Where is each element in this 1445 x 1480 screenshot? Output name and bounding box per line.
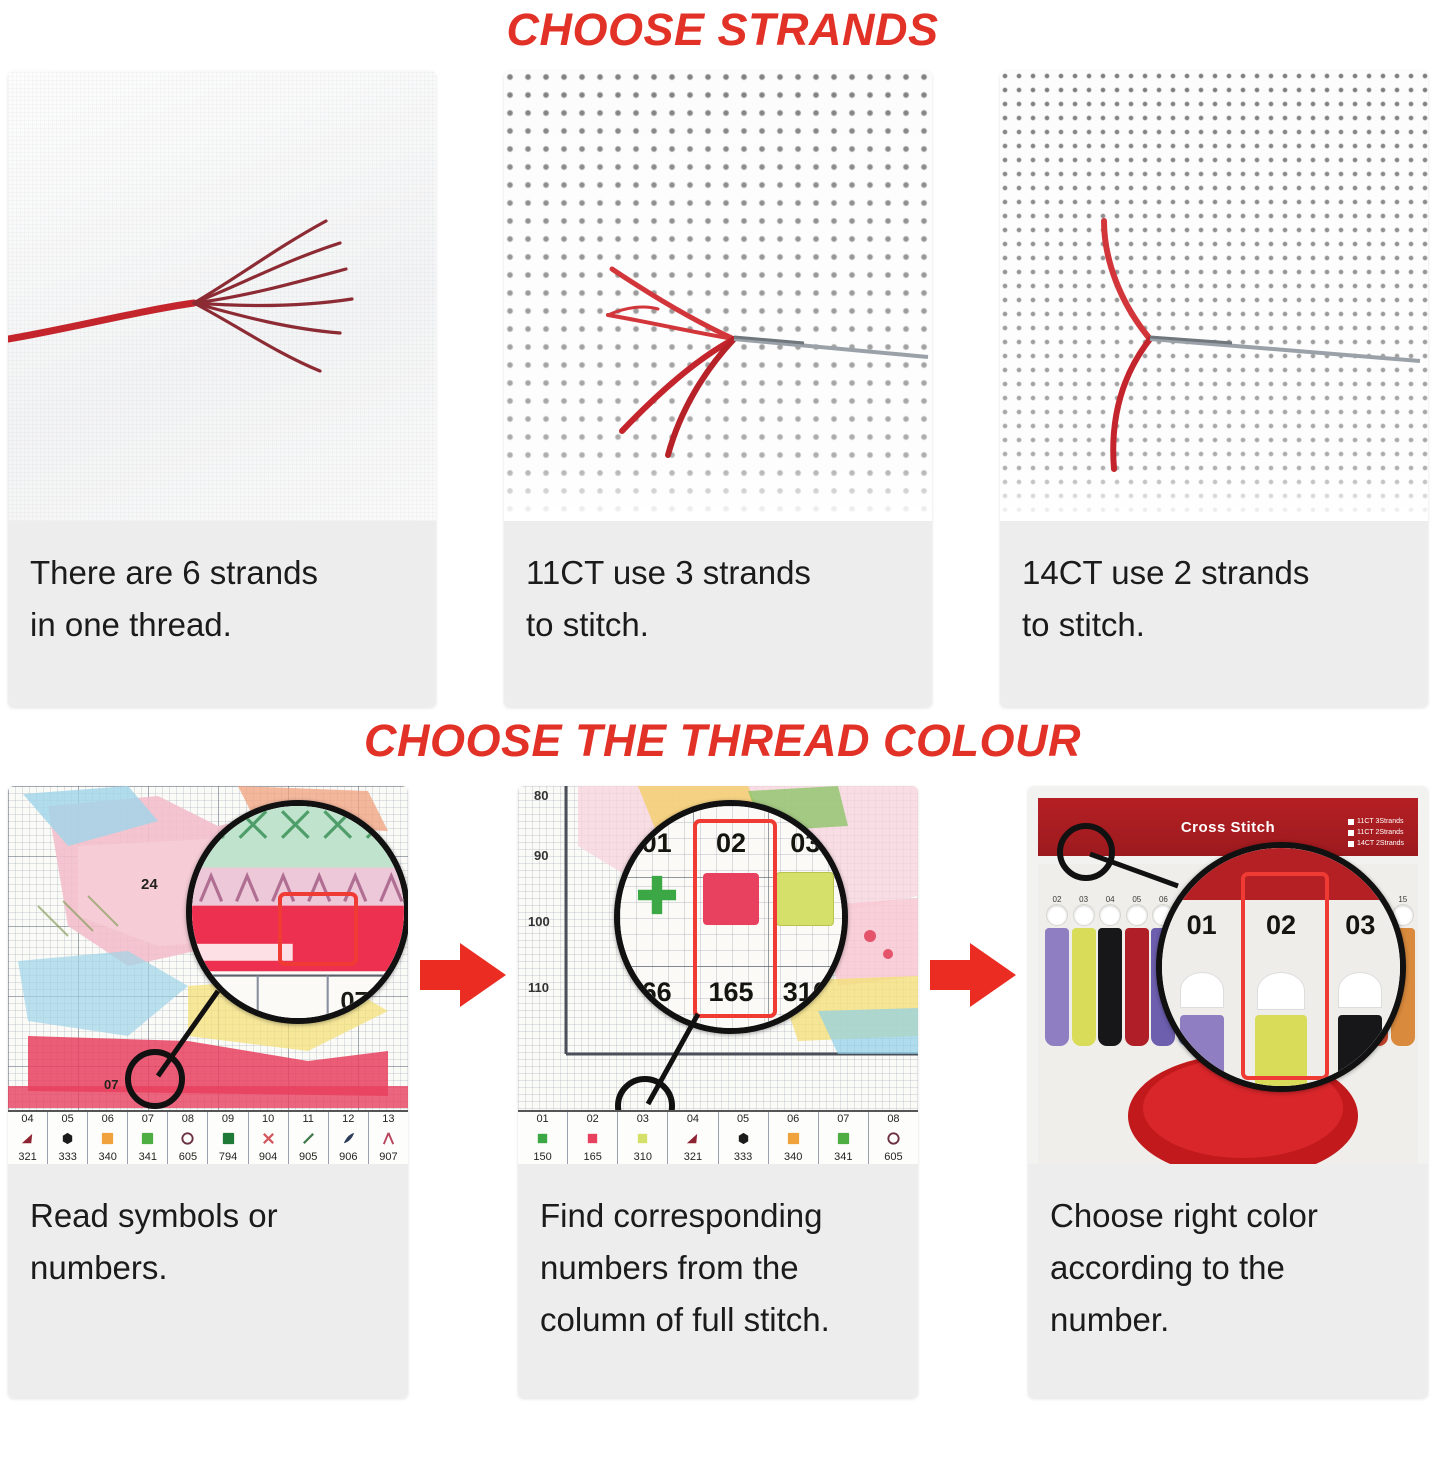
caption-line-1: There are 6 strands bbox=[30, 547, 414, 599]
needle-and-three-strands-illustration bbox=[504, 71, 932, 521]
legend-code-cell: 605 bbox=[869, 1150, 918, 1164]
caption-line-1: 11CT use 3 strands bbox=[526, 547, 910, 599]
legend-header-cell: 06 bbox=[88, 1112, 128, 1126]
legend-symbol-cell bbox=[208, 1126, 248, 1150]
caption-read-symbols: Read symbols or numbers. bbox=[8, 1164, 408, 1398]
legend-symbol-cell bbox=[249, 1126, 289, 1150]
legend-header-cell: 11 bbox=[289, 1112, 329, 1126]
arrow-cell-1 bbox=[408, 786, 518, 1164]
photo-chart-numbers: 80 90 100 110 01 66 bbox=[518, 786, 918, 1164]
panel-choose-colour: Cross Stitch 11CT 3Strands 11CT 2Strands… bbox=[1028, 786, 1428, 1398]
legend-code-cell: 321 bbox=[8, 1150, 48, 1164]
legend-symbol-cell bbox=[668, 1126, 718, 1150]
photo-six-strands bbox=[8, 71, 436, 521]
legend-symbol-cell bbox=[289, 1126, 329, 1150]
panel-find-numbers: 80 90 100 110 01 66 bbox=[518, 786, 918, 1398]
panel-read-symbols: 24 07 bbox=[8, 786, 408, 1398]
legend-symbol-cell bbox=[88, 1126, 128, 1150]
legend-code-cell: 165 bbox=[568, 1150, 618, 1164]
photo-11ct-needle bbox=[504, 71, 932, 521]
legend-symbol-cell bbox=[568, 1126, 618, 1150]
caption-six-strands: There are 6 strands in one thread. bbox=[8, 521, 436, 707]
photo-14ct-needle bbox=[1000, 71, 1428, 521]
legend-header-cell: 07 bbox=[128, 1112, 168, 1126]
section-title-choose-thread-colour: CHOOSE THE THREAD COLOUR bbox=[0, 713, 1445, 768]
magnifier-leader-line bbox=[1028, 786, 1428, 1164]
legend-symbol-cell bbox=[48, 1126, 88, 1150]
legend-code-cell: 341 bbox=[128, 1150, 168, 1164]
legend-code-cell: 907 bbox=[369, 1150, 408, 1164]
legend-header-cell: 13 bbox=[369, 1112, 408, 1126]
caption-line-3: column of full stitch. bbox=[540, 1294, 896, 1346]
legend-symbol-cell bbox=[869, 1126, 918, 1150]
photo-thread-card: Cross Stitch 11CT 3Strands 11CT 2Strands… bbox=[1028, 786, 1428, 1164]
legend-code-row: 150165310321333340341605 bbox=[518, 1150, 918, 1164]
legend-code-cell: 321 bbox=[668, 1150, 718, 1164]
arrow-cell-2 bbox=[918, 786, 1028, 1164]
caption-line-3: number. bbox=[1050, 1294, 1406, 1346]
legend-code-row: 321333340341605794904905906907 bbox=[8, 1150, 408, 1164]
legend-header-cell: 01 bbox=[518, 1112, 568, 1126]
caption-choose-colour: Choose right color according to the numb… bbox=[1028, 1164, 1428, 1398]
legend-symbol-cell bbox=[769, 1126, 819, 1150]
legend-code-cell: 605 bbox=[168, 1150, 208, 1164]
magnifier-leader-line bbox=[8, 786, 408, 1164]
legend-code-cell: 904 bbox=[249, 1150, 289, 1164]
legend-header-cell: 04 bbox=[8, 1112, 48, 1126]
legend-header-cell: 04 bbox=[668, 1112, 718, 1126]
caption-line-2: numbers from the bbox=[540, 1242, 896, 1294]
legend-header-cell: 08 bbox=[869, 1112, 918, 1126]
legend-symbol-cell bbox=[329, 1126, 369, 1150]
caption-line-2: to stitch. bbox=[526, 599, 910, 651]
legend-code-cell: 333 bbox=[48, 1150, 88, 1164]
caption-line-1: Read symbols or bbox=[30, 1190, 386, 1242]
section-title-choose-strands: CHOOSE STRANDS bbox=[0, 2, 1445, 57]
legend-header-row: 04050607080910111213 bbox=[8, 1112, 408, 1126]
caption-line-1: Choose right color bbox=[1050, 1190, 1406, 1242]
legend-header-cell: 03 bbox=[618, 1112, 668, 1126]
caption-find-numbers: Find corresponding numbers from the colu… bbox=[518, 1164, 918, 1398]
legend-code-cell: 341 bbox=[819, 1150, 869, 1164]
six-strand-thread-illustration bbox=[8, 71, 436, 521]
arrow-head bbox=[970, 943, 1016, 1007]
chart-legend-strip: 04050607080910111213 3213333403416057949… bbox=[8, 1110, 408, 1164]
card-six-strands: There are 6 strands in one thread. bbox=[8, 71, 436, 707]
legend-header-cell: 02 bbox=[568, 1112, 618, 1126]
legend-symbol-cell bbox=[819, 1126, 869, 1150]
legend-code-cell: 310 bbox=[618, 1150, 668, 1164]
photo-chart-symbols: 24 07 bbox=[8, 786, 408, 1164]
legend-code-cell: 794 bbox=[208, 1150, 248, 1164]
caption-line-2: numbers. bbox=[30, 1242, 386, 1294]
legend-code-cell: 906 bbox=[329, 1150, 369, 1164]
legend-header-row: 0102030405060708 bbox=[518, 1112, 918, 1126]
legend-symbol-cell bbox=[719, 1126, 769, 1150]
legend-header-cell: 08 bbox=[168, 1112, 208, 1126]
caption-line-1: Find corresponding bbox=[540, 1190, 896, 1242]
legend-symbol-cell bbox=[618, 1126, 668, 1150]
caption-line-2: in one thread. bbox=[30, 599, 414, 651]
legend-header-cell: 07 bbox=[819, 1112, 869, 1126]
caption-line-2: to stitch. bbox=[1022, 599, 1406, 651]
legend-code-cell: 340 bbox=[88, 1150, 128, 1164]
caption-line-1: 14CT use 2 strands bbox=[1022, 547, 1406, 599]
legend-code-cell: 333 bbox=[719, 1150, 769, 1164]
legend-code-cell: 905 bbox=[289, 1150, 329, 1164]
legend-header-cell: 12 bbox=[329, 1112, 369, 1126]
legend-code-cell: 150 bbox=[518, 1150, 568, 1164]
legend-symbol-row bbox=[8, 1126, 408, 1150]
caption-14ct: 14CT use 2 strands to stitch. bbox=[1000, 521, 1428, 707]
next-step-arrow-icon bbox=[930, 943, 1016, 1007]
needle-and-two-strands-illustration bbox=[1000, 71, 1428, 521]
caption-11ct: 11CT use 3 strands to stitch. bbox=[504, 521, 932, 707]
card-14ct-two-strands: 14CT use 2 strands to stitch. bbox=[1000, 71, 1428, 707]
thread-colour-panel-row: 24 07 bbox=[0, 786, 1445, 1398]
arrow-head bbox=[460, 943, 506, 1007]
legend-header-cell: 05 bbox=[719, 1112, 769, 1126]
chart-legend-strip: 0102030405060708 15016531032133334034160… bbox=[518, 1110, 918, 1164]
legend-symbol-cell bbox=[369, 1126, 408, 1150]
legend-symbol-cell bbox=[168, 1126, 208, 1150]
legend-symbol-cell bbox=[8, 1126, 48, 1150]
legend-header-cell: 05 bbox=[48, 1112, 88, 1126]
legend-symbol-row bbox=[518, 1126, 918, 1150]
next-step-arrow-icon bbox=[420, 943, 506, 1007]
caption-line-2: according to the bbox=[1050, 1242, 1406, 1294]
legend-header-cell: 06 bbox=[769, 1112, 819, 1126]
legend-header-cell: 10 bbox=[249, 1112, 289, 1126]
card-11ct-three-strands: 11CT use 3 strands to stitch. bbox=[504, 71, 932, 707]
strands-card-row: There are 6 strands in one thread. 11CT bbox=[0, 71, 1445, 707]
magnifier-leader-line bbox=[518, 786, 918, 1164]
legend-symbol-cell bbox=[128, 1126, 168, 1150]
legend-symbol-cell bbox=[518, 1126, 568, 1150]
legend-code-cell: 340 bbox=[769, 1150, 819, 1164]
legend-header-cell: 09 bbox=[208, 1112, 248, 1126]
